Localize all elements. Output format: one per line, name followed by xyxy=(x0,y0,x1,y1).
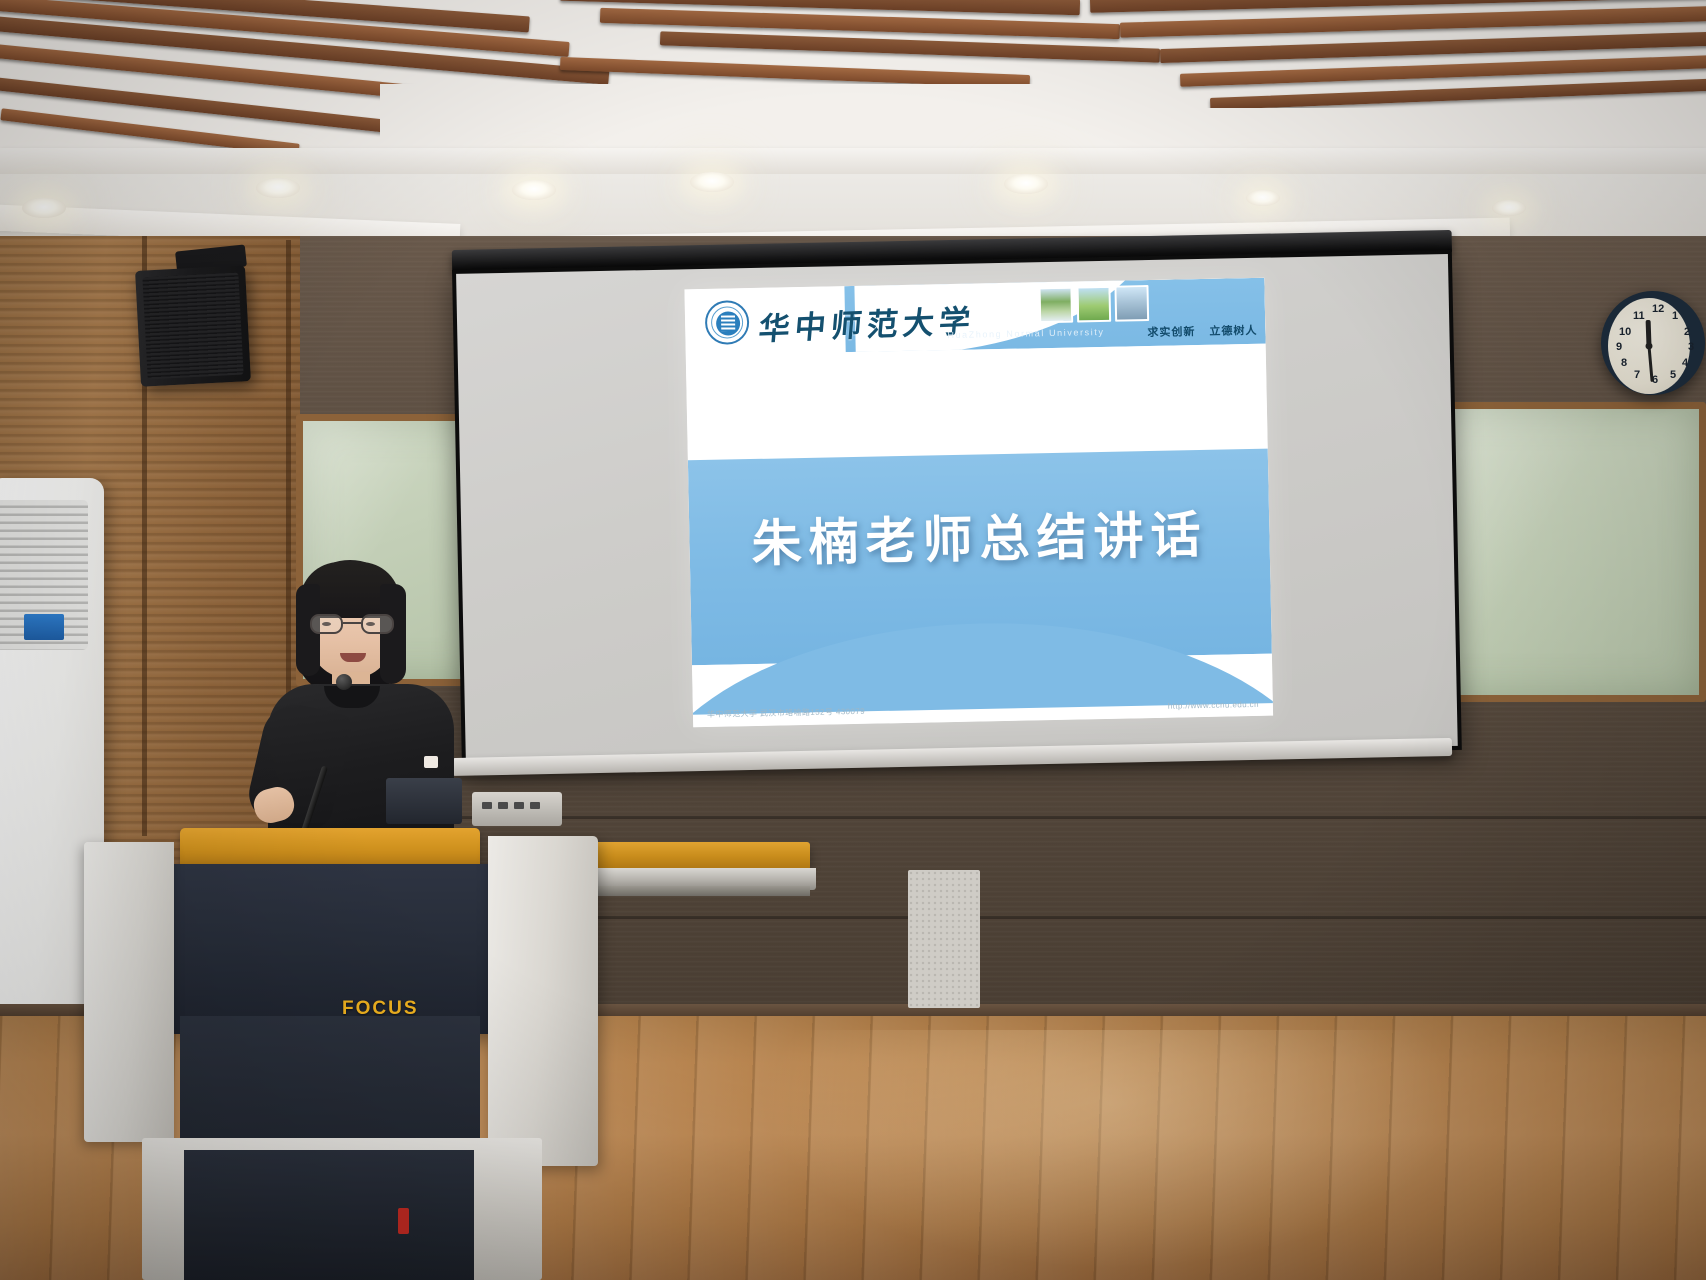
sleeve-detail xyxy=(424,756,438,768)
clock-numeral: 3 xyxy=(1688,341,1694,353)
motto-part-1: 求实创新 xyxy=(1147,323,1195,340)
eyeglasses-icon xyxy=(310,614,394,634)
projection-screen: 华中师范大学 HuaZhong Normal University 求实创新 立… xyxy=(452,250,1462,770)
console-button[interactable] xyxy=(498,802,508,809)
campus-photo-1 xyxy=(1038,287,1073,324)
slide-white-band xyxy=(686,344,1268,461)
downlight-icon xyxy=(22,198,66,218)
campus-photo-strip xyxy=(1038,285,1149,323)
clock-numeral: 4 xyxy=(1682,357,1688,369)
university-seal-icon xyxy=(705,300,750,345)
podium-monitor xyxy=(386,778,462,824)
ceiling-soffit xyxy=(0,148,1706,174)
wall-clock: 12 1 2 3 4 5 6 7 8 9 10 11 xyxy=(1601,291,1705,395)
clock-numeral: 9 xyxy=(1616,341,1622,353)
podium-control-console[interactable] xyxy=(472,792,562,826)
downlight-icon xyxy=(1246,190,1280,206)
clock-face: 12 1 2 3 4 5 6 7 8 9 10 11 xyxy=(1608,298,1690,394)
hair-right xyxy=(380,584,406,684)
lectern-equipment-bay xyxy=(184,1150,474,1280)
slide-title: 朱楠老师总结讲话 xyxy=(689,494,1270,578)
downlight-icon xyxy=(256,178,300,198)
projected-slide: 华中师范大学 HuaZhong Normal University 求实创新 立… xyxy=(684,278,1273,728)
loudspeaker xyxy=(135,265,251,387)
console-button[interactable] xyxy=(482,802,492,809)
clock-numeral: 10 xyxy=(1619,326,1631,338)
floor-light-reflection xyxy=(760,1030,1460,1270)
lectern-indicator xyxy=(398,1208,409,1234)
downlight-icon xyxy=(1492,200,1526,216)
clock-numeral: 8 xyxy=(1621,357,1627,369)
slide-footer-url: http://www.ccnu.edu.cn xyxy=(1168,700,1259,711)
university-motto: 求实创新 立德树人 xyxy=(1147,322,1257,340)
wood-slat-ceiling xyxy=(0,0,1706,148)
university-name-cn: 华中师范大学 xyxy=(757,296,977,349)
clock-numeral: 1 xyxy=(1672,310,1678,322)
clock-numeral: 5 xyxy=(1670,369,1676,381)
lectern: FOCUS MEDIA xyxy=(84,820,629,1280)
glasses-bridge xyxy=(343,622,361,624)
console-button[interactable] xyxy=(514,802,524,809)
slide-header: 华中师范大学 HuaZhong Normal University 求实创新 立… xyxy=(684,278,1265,356)
campus-photo-3 xyxy=(1114,285,1149,322)
microphone-head-icon xyxy=(336,674,352,690)
downlight-icon xyxy=(512,180,556,200)
clock-numeral: 11 xyxy=(1633,310,1645,322)
clock-numeral: 7 xyxy=(1634,369,1640,381)
clock-numeral: 12 xyxy=(1652,303,1664,315)
ac-energy-label xyxy=(24,614,64,640)
motto-part-2: 立德树人 xyxy=(1209,322,1257,339)
downlight-icon xyxy=(1004,174,1048,194)
lens-right xyxy=(361,614,394,634)
downlight-icon xyxy=(690,172,734,192)
lecture-hall-photo: 华中师范大学 HuaZhong Normal University 求实创新 立… xyxy=(0,0,1706,1280)
lectern-speaker-mesh xyxy=(908,870,980,1008)
lectern-left-column xyxy=(84,842,174,1142)
clock-center-pin xyxy=(1646,343,1653,350)
lens-left xyxy=(310,614,343,634)
speaker-grill xyxy=(142,273,243,380)
lectern-right-column xyxy=(488,836,598,1166)
console-button[interactable] xyxy=(530,802,540,809)
lectern-front-panel xyxy=(174,864,494,1034)
campus-photo-2 xyxy=(1076,286,1111,323)
clock-numeral: 2 xyxy=(1684,326,1690,338)
clock-minute-hand xyxy=(1648,346,1654,382)
